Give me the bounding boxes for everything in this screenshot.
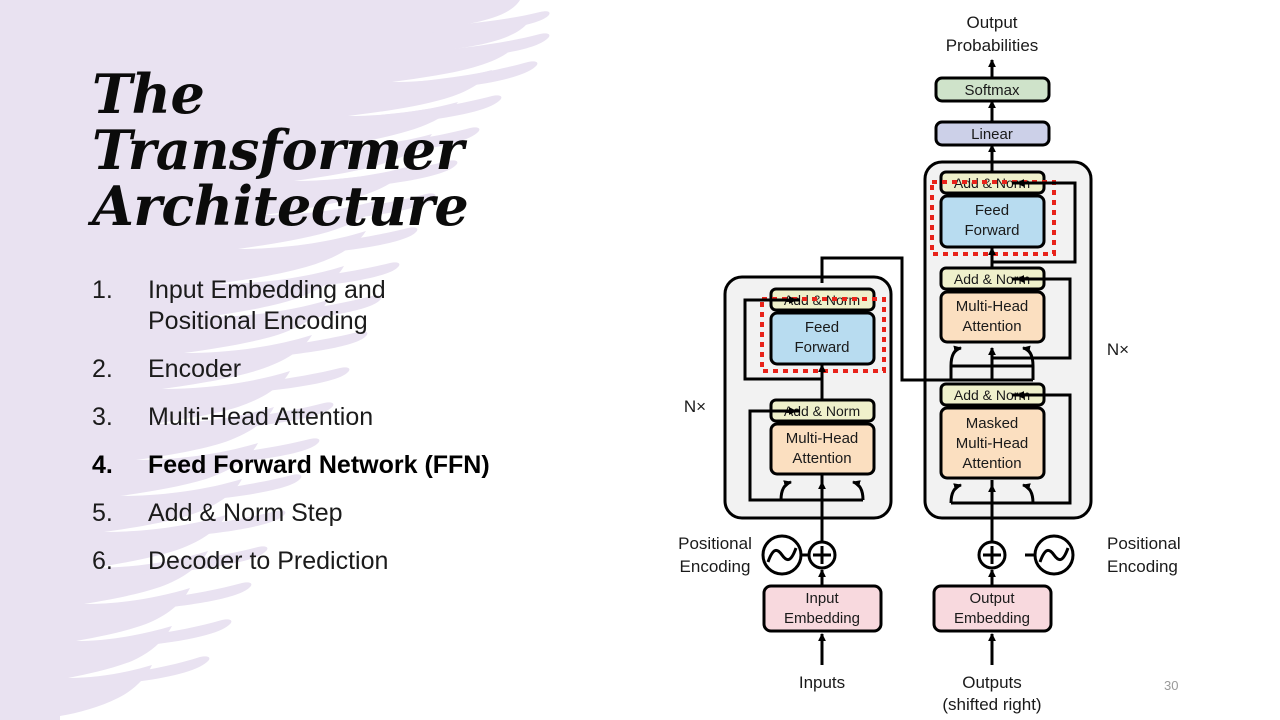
- positional-encoding-right-line2: Encoding: [1107, 557, 1178, 576]
- output-probabilities-line2: Probabilities: [946, 36, 1039, 55]
- list-item: 6. Decoder to Prediction: [92, 546, 562, 577]
- block-encoder-feed-forward-line1: Feed: [805, 319, 839, 336]
- block-masked-multi-head-attention-line3: Attention: [962, 455, 1021, 472]
- list-item-number: 4.: [92, 450, 148, 481]
- page-title: The Transformer Architecture: [92, 66, 512, 234]
- list-item-number: 2.: [92, 354, 148, 385]
- title-line-2: Transformer: [92, 122, 512, 178]
- inputs-label: Inputs: [799, 673, 845, 692]
- list-item: 1. Input Embedding and Positional Encodi…: [92, 275, 562, 337]
- block-decoder-feed-forward-line1: Feed: [975, 202, 1009, 219]
- encoder-repeat-label: N×: [684, 397, 706, 416]
- list-item-number: 6.: [92, 546, 148, 577]
- list-item-number: 5.: [92, 498, 148, 529]
- block-output-embedding-line2: Embedding: [954, 610, 1030, 627]
- block-input-embedding-line1: Input: [805, 590, 839, 607]
- slide: The Transformer Architecture 1. Input Em…: [0, 0, 1280, 720]
- list-item-label: Multi-Head Attention: [148, 402, 373, 433]
- block-linear-label: Linear: [971, 126, 1013, 143]
- block-masked-multi-head-attention-line2: Multi-Head: [956, 435, 1029, 452]
- outputs-label-line1: Outputs: [962, 673, 1022, 692]
- outline-list: 1. Input Embedding and Positional Encodi…: [92, 275, 562, 594]
- list-item-label: Feed Forward Network (FFN): [148, 450, 490, 481]
- block-input-embedding-line2: Embedding: [784, 610, 860, 627]
- block-encoder-multi-head-attention-line1: Multi-Head: [786, 430, 859, 447]
- block-decoder-feed-forward-line2: Forward: [964, 222, 1019, 239]
- block-decoder-multi-head-attention-line1: Multi-Head: [956, 298, 1029, 315]
- list-item-label-line2: Positional Encoding: [148, 307, 368, 335]
- positional-encoding-left-line1: Positional: [678, 534, 752, 553]
- list-item-number: 3.: [92, 402, 148, 433]
- list-item-active: 4. Feed Forward Network (FFN): [92, 450, 562, 481]
- list-item-label: Add & Norm Step: [148, 498, 343, 529]
- list-item-number: 1.: [92, 275, 148, 306]
- block-softmax-label: Softmax: [964, 82, 1020, 99]
- positional-encoding-right-line1: Positional: [1107, 534, 1181, 553]
- output-probabilities-line1: Output: [966, 13, 1017, 32]
- title-line-1: The: [92, 66, 512, 122]
- block-masked-multi-head-attention-line1: Masked: [966, 415, 1019, 432]
- list-item: 3. Multi-Head Attention: [92, 402, 562, 433]
- block-decoder-multi-head-attention-line2: Attention: [962, 318, 1021, 335]
- list-item-label-line1: Input Embedding and: [148, 276, 386, 304]
- list-item: 5. Add & Norm Step: [92, 498, 562, 529]
- list-item-label: Input Embedding and Positional Encoding: [148, 275, 386, 337]
- outputs-label-line2: (shifted right): [942, 695, 1041, 714]
- block-encoder-multi-head-attention-line2: Attention: [792, 450, 851, 467]
- block-encoder-feed-forward-line2: Forward: [794, 339, 849, 356]
- block-output-embedding-line1: Output: [969, 590, 1015, 607]
- transformer-diagram: Output Probabilities Softmax Linear Add …: [640, 0, 1240, 720]
- list-item-label: Decoder to Prediction: [148, 546, 388, 577]
- list-item-label: Encoder: [148, 354, 241, 385]
- title-line-3: Architecture: [92, 178, 512, 234]
- positional-encoding-left-line2: Encoding: [680, 557, 751, 576]
- decoder-repeat-label: N×: [1107, 340, 1129, 359]
- list-item: 2. Encoder: [92, 354, 562, 385]
- slide-number: 30: [1164, 678, 1178, 693]
